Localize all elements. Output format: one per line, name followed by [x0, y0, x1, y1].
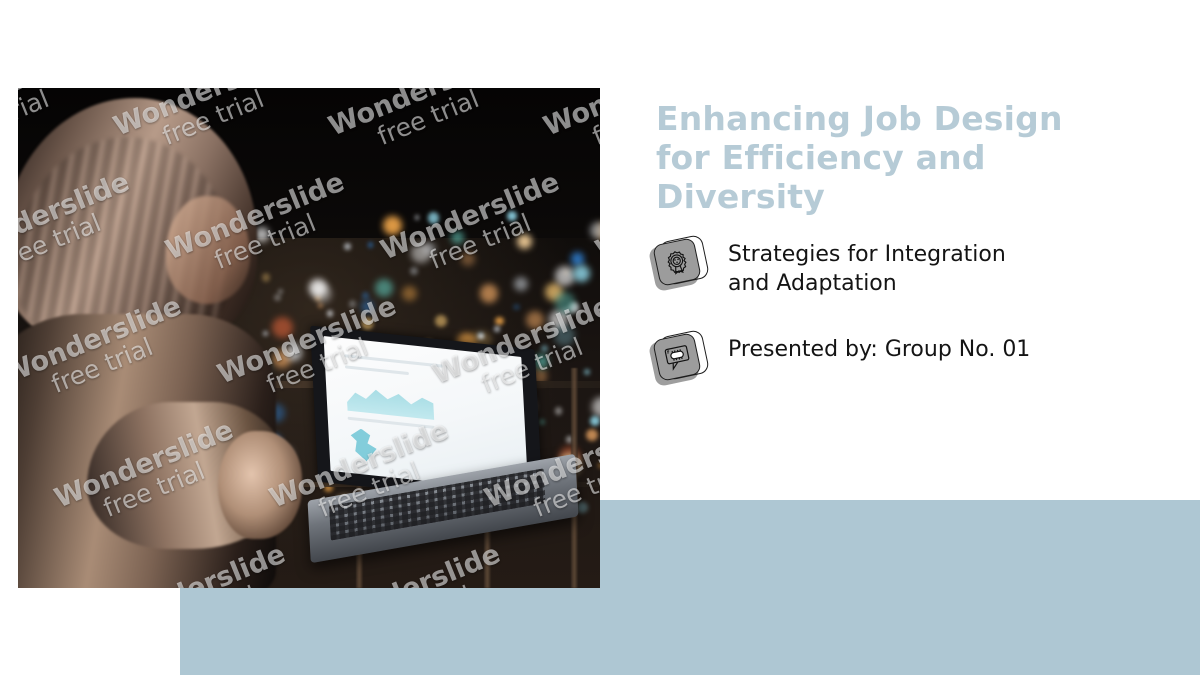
hero-photo: Wonderslidefree trialWonderslidefree tri…	[18, 88, 600, 588]
bullet-item-presenter: Presented by: Group No. 01	[652, 331, 1172, 389]
bullet-list: Strategies for Integration and Adaptatio…	[652, 236, 1172, 421]
speech-bubble-glyph	[661, 341, 693, 373]
gear-glyph	[662, 247, 693, 278]
presentation-slide: Wonderslidefree trialWonderslidefree tri…	[0, 0, 1200, 675]
face	[166, 196, 251, 304]
screen-graphic	[349, 427, 382, 463]
bullet-label: Strategies for Integration and Adaptatio…	[728, 236, 1006, 299]
hand	[218, 431, 303, 539]
laptop	[309, 338, 577, 548]
bullet-label: Presented by: Group No. 01	[728, 331, 1030, 364]
title-block: Enhancing Job Design for Efficiency and …	[656, 100, 1156, 217]
gear-badge-icon	[652, 236, 710, 294]
page-title: Enhancing Job Design for Efficiency and …	[656, 100, 1156, 217]
speech-bubble-icon	[652, 331, 710, 389]
icon-plate	[652, 332, 702, 382]
icon-plate	[652, 237, 702, 287]
bullet-item-strategies: Strategies for Integration and Adaptatio…	[652, 236, 1172, 299]
person-figure	[18, 98, 309, 588]
accent-block-bottom	[180, 588, 1200, 675]
photo-scene	[18, 88, 600, 588]
screen-chart	[346, 379, 435, 420]
